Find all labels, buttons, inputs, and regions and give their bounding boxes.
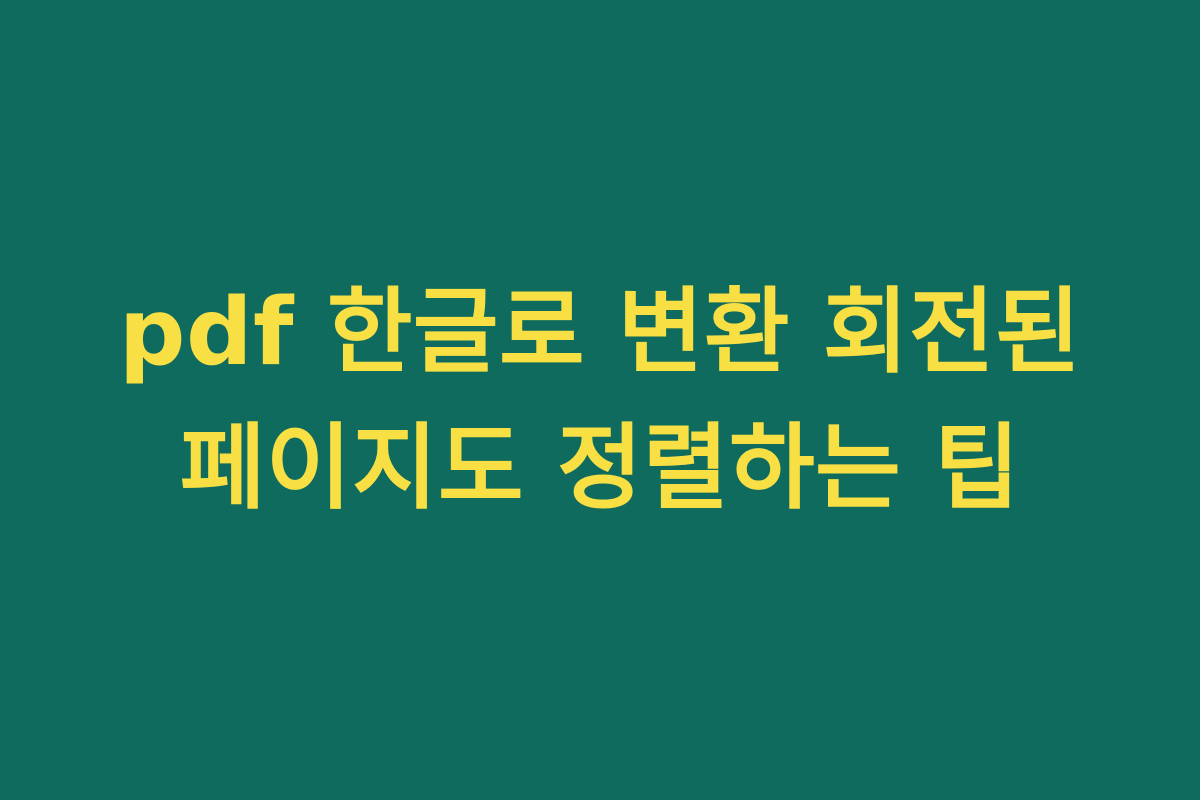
- banner-title-line-2: 페이지도 정렬하는 팁: [50, 400, 1150, 536]
- banner-canvas: pdf 한글로 변환 회전된 페이지도 정렬하는 팁: [0, 0, 1200, 800]
- banner-title-line-1: pdf 한글로 변환 회전된: [50, 264, 1150, 400]
- banner-title-block: pdf 한글로 변환 회전된 페이지도 정렬하는 팁: [50, 264, 1150, 536]
